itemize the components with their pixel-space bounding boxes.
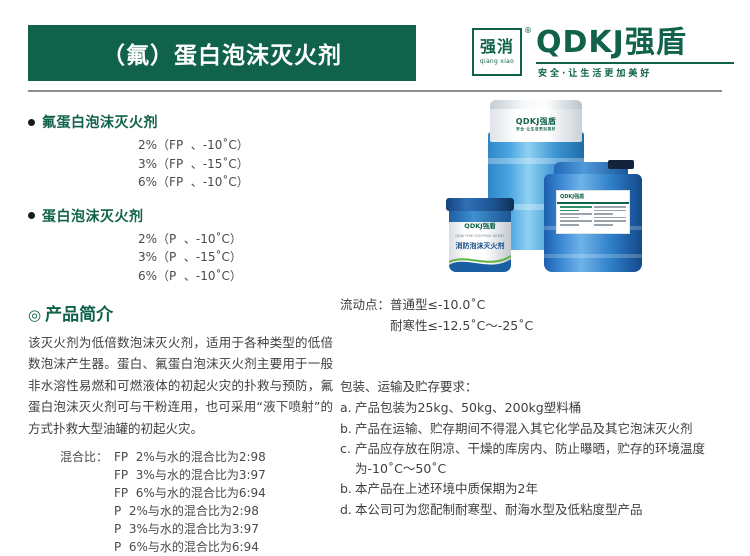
label-text-line — [560, 220, 592, 222]
packaging-item: b. 本产品在上述环境中质保期为2年 — [340, 479, 738, 499]
spec-heading-label: 蛋白泡沫灭火剂 — [42, 206, 144, 226]
drum-logo-tagline: 安全·让生活更加美好 — [498, 128, 574, 132]
bullet-icon — [28, 212, 35, 219]
label-text-line — [594, 210, 626, 212]
mixing-ratio-label: 混合比： — [28, 448, 114, 556]
can-cap — [608, 160, 634, 169]
right-column: 流动点： 普通型≤-10.0˚C 耐寒性≤-12.5˚C～-25˚C 包装、运输… — [340, 295, 738, 520]
label-text-line — [594, 206, 626, 208]
spec-group-fluoroprotein: 氟蛋白泡沫灭火剂 2%（FP 、-10˚C） 3%（FP 、-15˚C） 6%（… — [28, 112, 333, 192]
pail-lid — [446, 198, 514, 211]
flow-point-label: 流动点： — [340, 295, 390, 336]
can-label-column — [594, 206, 626, 228]
bullet-icon — [28, 119, 35, 126]
packaging-item-marker: a. — [340, 398, 355, 418]
spec-lines: 2%（FP 、-10˚C） 3%（FP 、-15˚C） 6%（FP 、-10˚C… — [138, 136, 333, 192]
pail-logo: QDKJ强盾 — [449, 223, 511, 230]
product-photo: QDKJ强盾 安全·让生活更加美好 QDKJ强盾 QDKJ FIRE-FIGHT… — [440, 96, 740, 276]
brand-logo: 强消 qiang xiao ® QDKJ强盾 安全·让生活更加美好 — [472, 26, 740, 82]
packaging-item-text: 产品应存放在阴凉、干燥的库房内、防止曝晒，贮存的环境温度为-10˚C～50˚C — [355, 439, 738, 480]
brand-tagline: 安全·让生活更加美好 — [538, 66, 652, 79]
can-ridge — [544, 254, 642, 258]
label-text-line — [560, 206, 592, 208]
label-text-line — [594, 213, 613, 215]
label-text-line — [560, 213, 592, 215]
packaging-item-marker: d. — [340, 500, 355, 520]
label-text-line — [594, 217, 626, 219]
can-label-body — [557, 204, 629, 230]
spec-heading-label: 氟蛋白泡沫灭火剂 — [42, 112, 158, 132]
spec-group-protein: 蛋白泡沫灭火剂 2%（P 、-10˚C） 3%（P 、-15˚C） 6%（P 、… — [28, 206, 333, 286]
mixing-ratio-lines: FP 2%与水的混合比为2:98 FP 3%与水的混合比为3:97 FP 6%与… — [114, 448, 266, 556]
flow-point-lines: 普通型≤-10.0˚C 耐寒性≤-12.5˚C～-25˚C — [390, 295, 533, 336]
pail-band — [449, 211, 511, 222]
packaging-item-text: 本公司可为您配制耐寒型、耐海水型及低粘度型产品 — [355, 500, 738, 520]
drum-logo-text: QDKJ强盾 — [516, 117, 556, 126]
page-title: （氟）蛋白泡沫灭火剂 — [102, 36, 342, 70]
spec-heading-row: 氟蛋白泡沫灭火剂 — [28, 112, 333, 132]
header-divider — [28, 90, 722, 92]
brand-rule-divider — [536, 62, 734, 64]
pail-swoosh-graphic — [449, 251, 511, 272]
product-jerrycan-50kg: QDKJ强盾 — [544, 160, 642, 272]
label-text-line — [560, 224, 579, 226]
pail-english-text: QDKJ FIRE-FIGHTING AGENT — [449, 234, 511, 238]
brand-mark-box: 强消 qiang xiao — [472, 28, 522, 76]
packaging-item-marker: c. — [340, 439, 355, 480]
drum-logo: QDKJ强盾 安全·让生活更加美好 — [498, 118, 574, 132]
brand-wordmark: QDKJ强盾 — [536, 28, 687, 58]
packaging-item: b. 产品在运输、贮存期间不得混入其它化学品及其它泡沫灭火剂 — [340, 419, 738, 439]
label-text-line — [560, 210, 579, 212]
packaging-item-marker: b. — [340, 419, 355, 439]
label-text-line — [594, 220, 626, 222]
section-heading-introduction: ◎ 产品简介 — [28, 300, 333, 325]
brand-mark-pinyin: qiang xiao — [480, 59, 514, 65]
label-text-line — [560, 217, 579, 219]
can-label: QDKJ强盾 — [556, 190, 630, 234]
ring-icon: ◎ — [28, 306, 41, 324]
can-label-column — [560, 206, 592, 228]
flow-point-block: 流动点： 普通型≤-10.0˚C 耐寒性≤-12.5˚C～-25˚C — [340, 295, 738, 336]
mixing-ratio-block: 混合比： FP 2%与水的混合比为2:98 FP 3%与水的混合比为3:97 F… — [28, 448, 333, 556]
label-text-line — [594, 224, 613, 226]
spec-lines: 2%（P 、-10˚C） 3%（P 、-15˚C） 6%（P 、-10˚C） — [138, 230, 333, 286]
product-pail-25kg: QDKJ强盾 QDKJ FIRE-FIGHTING AGENT 消防泡沫灭火剂 — [446, 194, 514, 272]
packaging-block: 包装、运输及贮存要求： a. 产品包装为25kg、50kg、200kg塑料桶 b… — [340, 376, 738, 520]
registered-trademark-icon: ® — [524, 26, 532, 35]
drum-rim — [490, 100, 582, 109]
packaging-item: d. 本公司可为您配制耐寒型、耐海水型及低粘度型产品 — [340, 500, 738, 520]
packaging-item-text: 产品包装为25kg、50kg、200kg塑料桶 — [355, 398, 738, 418]
left-column: 氟蛋白泡沫灭火剂 2%（FP 、-10˚C） 3%（FP 、-15˚C） 6%（… — [28, 112, 333, 556]
packaging-item: c. 产品应存放在阴凉、干燥的库房内、防止曝晒，贮存的环境温度为-10˚C～50… — [340, 439, 738, 480]
packaging-item-text: 本产品在上述环境中质保期为2年 — [355, 479, 738, 499]
packaging-title: 包装、运输及贮存要求： — [340, 376, 738, 395]
header-banner: （氟）蛋白泡沫灭火剂 — [28, 25, 416, 81]
section-heading-label: 产品简介 — [45, 300, 113, 325]
can-label-brand: QDKJ强盾 — [557, 191, 629, 204]
pail-chinese-text: 消防泡沫灭火剂 — [449, 241, 511, 251]
brand-mark-chinese: 强消 — [480, 39, 514, 55]
packaging-item-text: 产品在运输、贮存期间不得混入其它化学品及其它泡沫灭火剂 — [355, 419, 738, 439]
introduction-body-text: 该灭火剂为低倍数泡沫灭火剂，适用于各种类型的低倍数泡沫产生器。蛋白、氟蛋白泡沫灭… — [28, 332, 333, 440]
pail-swoosh-svg — [449, 251, 511, 272]
packaging-item-marker: b. — [340, 479, 355, 499]
spec-heading-row: 蛋白泡沫灭火剂 — [28, 206, 333, 226]
packaging-item: a. 产品包装为25kg、50kg、200kg塑料桶 — [340, 398, 738, 418]
